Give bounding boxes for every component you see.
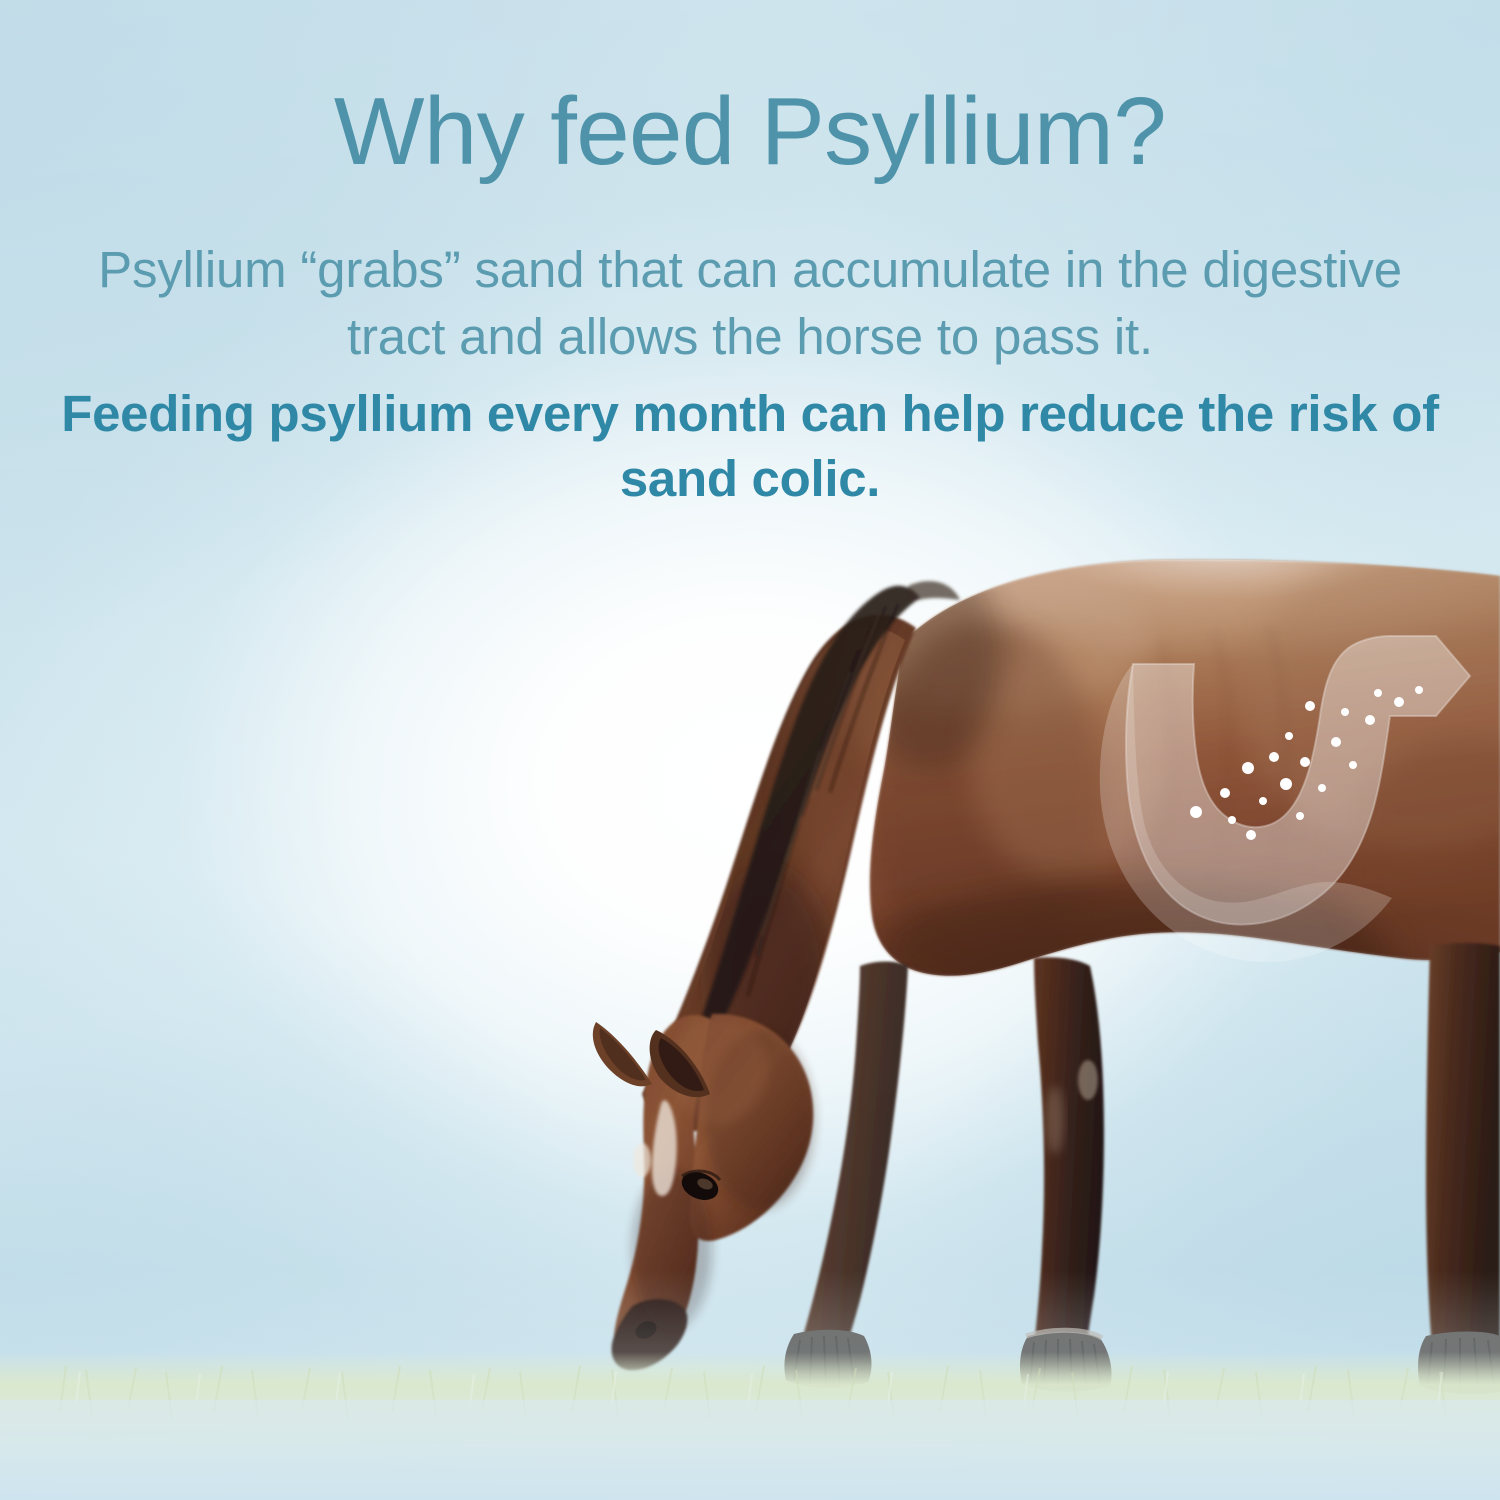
horse-front-leg (1034, 957, 1104, 1348)
sand-dot (1259, 797, 1267, 805)
copy-block: Why feed Psyllium? Psyllium “grabs” sand… (0, 84, 1500, 511)
sand-dot (1331, 737, 1341, 747)
sand-dot (1220, 788, 1230, 798)
sand-dot (1246, 830, 1256, 840)
sand-dot (1365, 715, 1375, 725)
horse-far-front-leg (800, 962, 908, 1347)
body-paragraph: Psyllium “grabs” sand that can accumulat… (95, 236, 1405, 371)
sand-dot (1242, 762, 1254, 774)
sand-dot (1374, 689, 1382, 697)
sand-dot (1300, 757, 1310, 767)
body-emphasis: Feeding psyllium every month can help re… (50, 381, 1450, 512)
sand-dot (1305, 701, 1315, 711)
sand-dot (1285, 732, 1293, 740)
sand-dot (1296, 812, 1304, 820)
sand-dot (1394, 697, 1404, 707)
grass-strip (0, 1352, 1500, 1500)
sand-dot (1318, 784, 1326, 792)
sand-dot (1269, 752, 1279, 762)
infographic-canvas: Why feed Psyllium? Psyllium “grabs” sand… (0, 0, 1500, 1500)
sand-dot (1190, 806, 1202, 818)
sand-dot (1415, 686, 1423, 694)
sand-dot (1228, 816, 1236, 824)
horse-hind-leg (1426, 943, 1500, 1348)
sand-dot (1280, 778, 1292, 790)
sand-dot (1349, 761, 1357, 769)
page-title: Why feed Psyllium? (0, 84, 1500, 180)
sand-dot (1341, 708, 1349, 716)
